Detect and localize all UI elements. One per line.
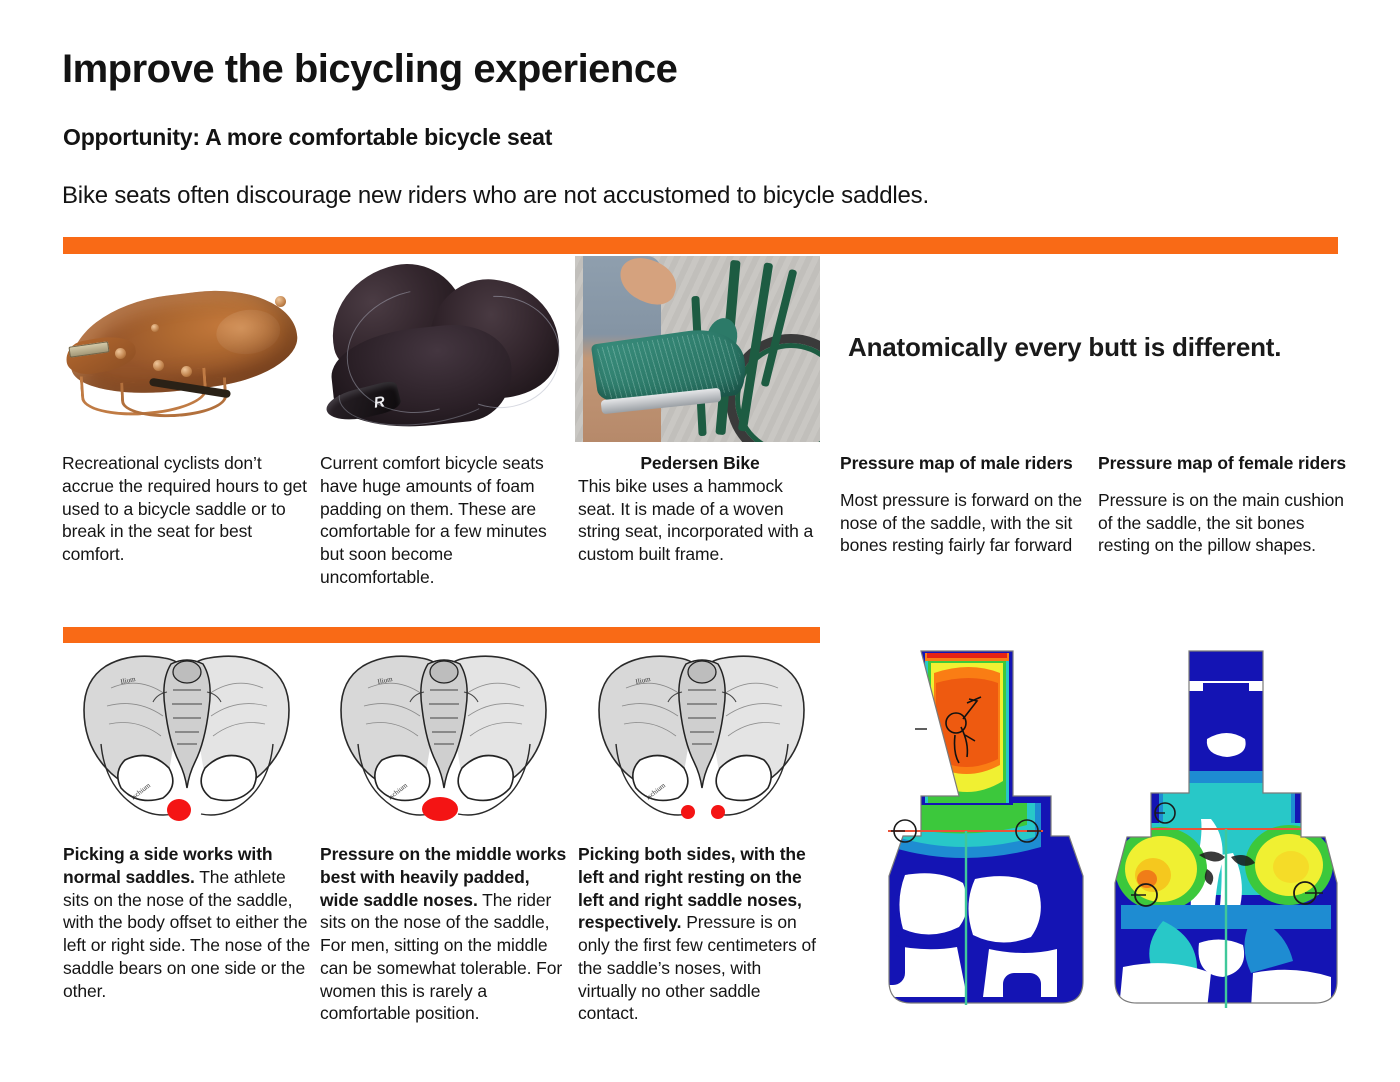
page-subtitle: Opportunity: A more comfortable bicycle …	[63, 124, 963, 151]
caption-leather-saddle: Recreational cyclists don’t accrue the r…	[62, 452, 310, 566]
rivet-icon	[115, 348, 126, 359]
rivet-icon	[151, 324, 159, 332]
leather-saddle-photo	[63, 256, 306, 440]
caption-heading: Pedersen Bike	[578, 452, 822, 475]
caption-body: Most pressure is forward on the nose of …	[840, 490, 1082, 556]
caption-comfort-saddle: Current comfort bicycle seats have huge …	[320, 452, 570, 589]
pressure-marker	[422, 797, 458, 821]
caption-body: Current comfort bicycle seats have huge …	[320, 453, 547, 587]
caption-heading: Pressure map of female riders	[1098, 452, 1348, 475]
saddle-logo: R	[373, 393, 386, 411]
pelvis-diagram-one-side: Ilium Ischium	[63, 648, 310, 830]
comfort-saddle-photo: R	[318, 256, 567, 440]
pressure-map-female-chart	[1103, 643, 1350, 1008]
pressure-marker-right	[711, 805, 725, 819]
caption-pelvis-one-side: Picking a side works with normal saddles…	[63, 843, 313, 1002]
caption-pressure-map-female: Pressure map of female riders Pressure i…	[1098, 452, 1348, 557]
accent-rule-middle	[63, 627, 820, 643]
caption-heading: Pressure map of male riders	[840, 452, 1086, 475]
anatomy-headline: Anatomically every butt is different.	[848, 332, 1368, 363]
page-title: Improve the bicycling experience	[62, 48, 962, 90]
page-lede: Bike seats often discourage new riders w…	[62, 182, 1162, 210]
pelvis-diagram-middle: Ilium Ischium	[320, 648, 567, 830]
accent-rule-top	[63, 237, 1338, 254]
pelvis-diagram-both-sides: Ilium Ischium	[578, 648, 825, 830]
caption-pelvis-middle: Pressure on the middle works best with h…	[320, 843, 570, 1025]
pressure-marker-left	[681, 805, 695, 819]
rivet-icon	[275, 296, 286, 307]
rivet-icon	[153, 360, 164, 371]
pressure-marker	[167, 799, 191, 821]
caption-body: This bike uses a hammock seat. It is mad…	[578, 476, 813, 564]
caption-spacer	[840, 475, 1086, 489]
caption-pressure-map-male: Pressure map of male riders Most pressur…	[840, 452, 1086, 557]
pelvis-drawing: Ilium Ischium	[341, 656, 546, 815]
pressure-map-male-chart	[843, 643, 1090, 1008]
pedersen-bike-photo	[575, 256, 820, 442]
caption-pedersen-bike: Pedersen Bike This bike uses a hammock s…	[578, 452, 822, 566]
caption-spacer	[1098, 475, 1348, 489]
pelvis-drawing: Ilium Ischium	[599, 656, 804, 815]
pelvis-drawing: Ilium Ischium	[84, 656, 289, 815]
caption-body: Pressure is on the main cushion of the s…	[1098, 490, 1344, 556]
slide-canvas: Improve the bicycling experience Opportu…	[0, 0, 1400, 1082]
caption-pelvis-both-sides: Picking both sides, with the left and ri…	[578, 843, 822, 1025]
caption-body: Recreational cyclists don’t accrue the r…	[62, 453, 307, 564]
